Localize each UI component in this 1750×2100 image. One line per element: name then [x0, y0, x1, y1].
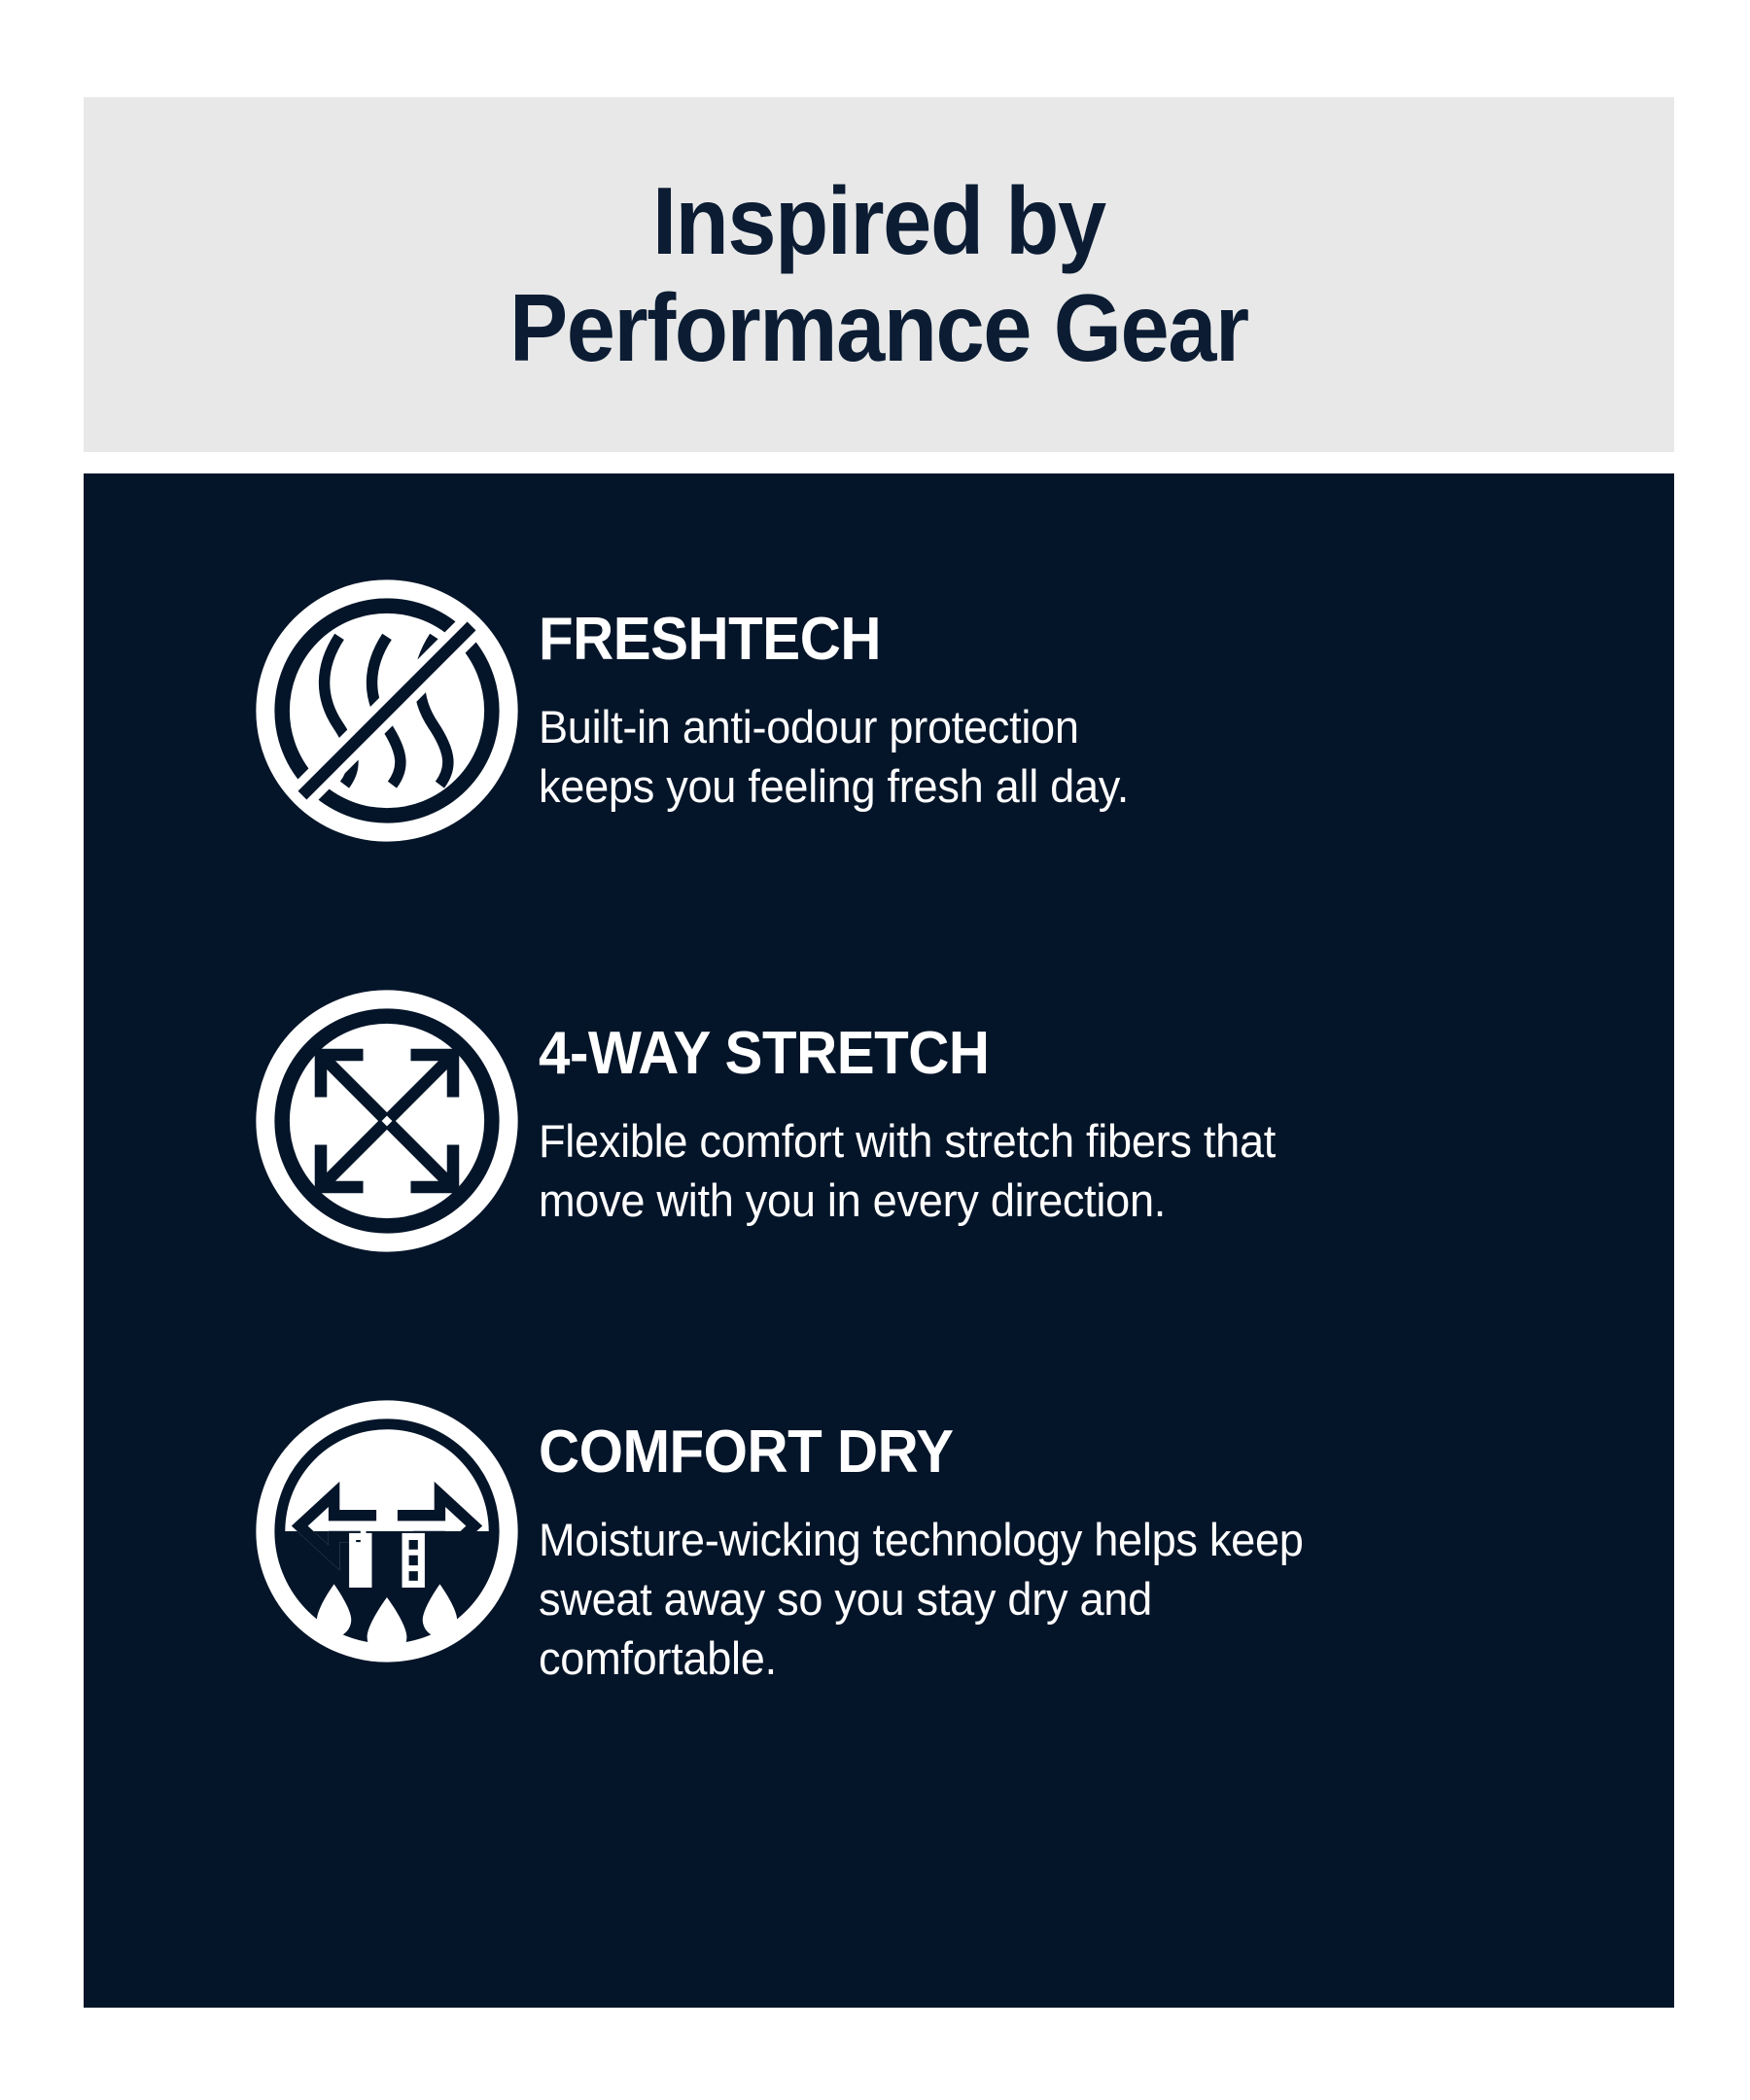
feature-heading: 4-WAY STRETCH: [539, 1022, 1452, 1086]
feature-heading: FRESHTECH: [539, 608, 1452, 672]
no-odour-icon: [255, 578, 519, 843]
feature-text-4-way-stretch: 4-WAY STRETCH Flexible comfort with stre…: [539, 989, 1511, 1230]
feature-heading: COMFORT DRY: [539, 1420, 1452, 1485]
performance-gear-infographic: Inspired by Performance Gear: [0, 0, 1750, 2100]
feature-item-freshtech: FRESHTECH Built-in anti-odour protection…: [255, 578, 1587, 843]
feature-panel: FRESHTECH Built-in anti-odour protection…: [84, 473, 1674, 2008]
feature-item-4-way-stretch: 4-WAY STRETCH Flexible comfort with stre…: [255, 989, 1587, 1253]
feature-body: Built-in anti-odour protection keeps you…: [539, 697, 1472, 816]
header-band: Inspired by Performance Gear: [84, 97, 1674, 452]
moisture-wicking-droplets-icon: [255, 1399, 519, 1663]
feature-text-comfort-dry: COMFORT DRY Moisture-wicking technology …: [539, 1399, 1511, 1688]
page-title: Inspired by Performance Gear: [473, 168, 1283, 382]
feature-body: Flexible comfort with stretch fibers tha…: [539, 1111, 1472, 1230]
feature-item-comfort-dry: COMFORT DRY Moisture-wicking technology …: [255, 1399, 1587, 1688]
feature-body: Moisture-wicking technology helps keep s…: [539, 1510, 1472, 1688]
four-way-stretch-arrows-icon: [255, 989, 519, 1253]
feature-text-freshtech: FRESHTECH Built-in anti-odour protection…: [539, 578, 1511, 816]
